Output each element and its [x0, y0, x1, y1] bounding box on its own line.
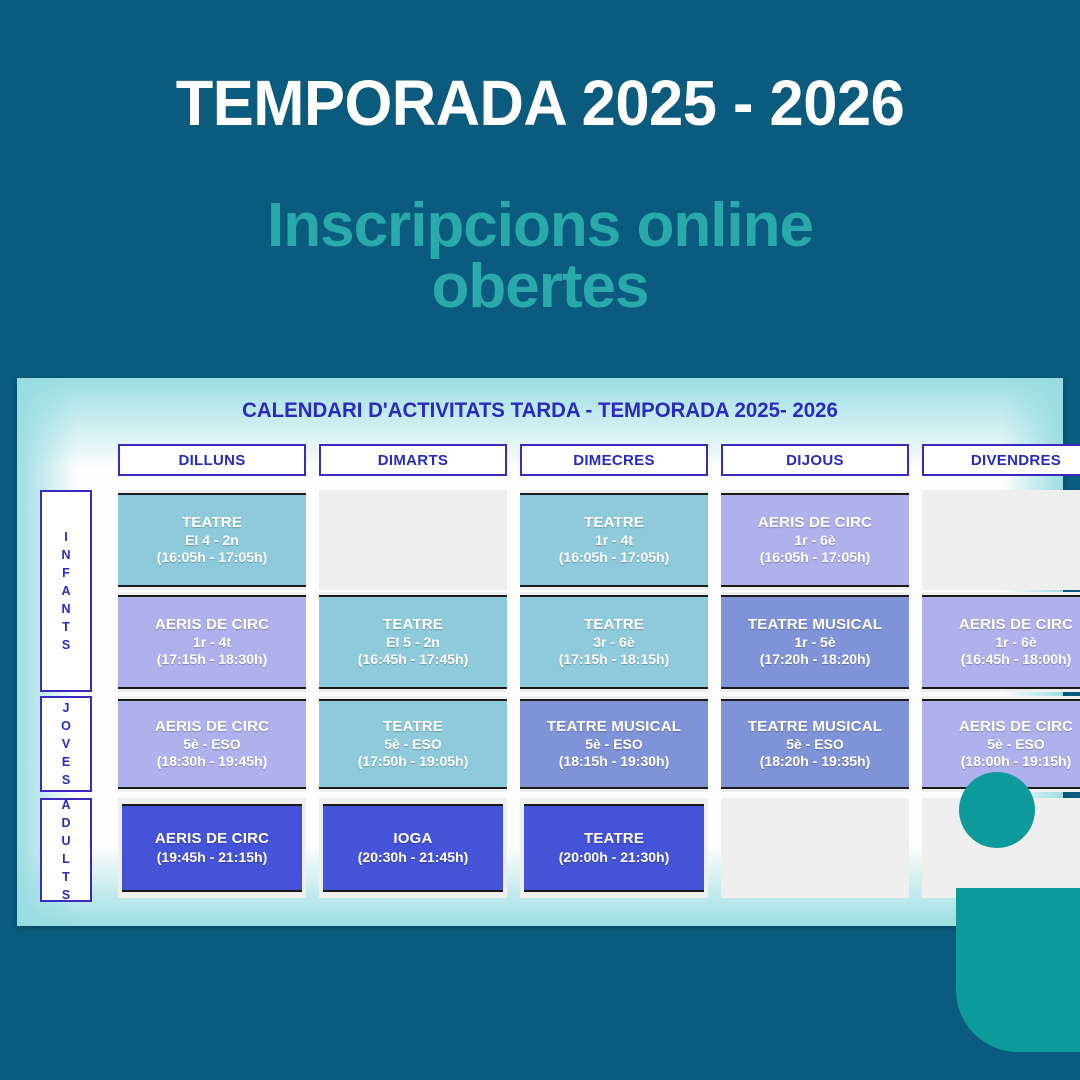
poster-subtitle-line2: obertes	[0, 257, 1080, 318]
activity-name: TEATRE MUSICAL	[748, 616, 882, 634]
logo-dot-icon	[959, 772, 1035, 848]
category-letter: A	[61, 796, 70, 814]
activity-level: 5è - ESO	[786, 736, 844, 753]
activity-time: (16:05h - 17:05h)	[559, 549, 669, 566]
category-letter: S	[62, 886, 70, 904]
activity-level: EI 4 - 2n	[185, 532, 239, 549]
category-letter: U	[61, 832, 70, 850]
activity-level: 1r - 6è	[995, 634, 1036, 651]
category-letter: O	[61, 717, 71, 735]
category-letter: T	[62, 868, 70, 886]
activity-cell[interactable]: TEATRE MUSICAL5è - ESO(18:20h - 19:35h)	[721, 699, 909, 789]
category-letter: S	[62, 771, 70, 789]
activity-name: TEATRE	[584, 514, 644, 532]
category-letter: S	[62, 636, 70, 654]
teatreneu-t-logo	[950, 765, 1080, 1080]
activity-time: (17:15h - 18:15h)	[559, 651, 669, 668]
activity-cell[interactable]: TEATRE1r - 4t(16:05h - 17:05h)	[520, 493, 708, 587]
category-letter: E	[62, 753, 70, 771]
activity-name: AERIS DE CIRC	[758, 514, 872, 532]
activity-level: 1r - 4t	[193, 634, 231, 651]
activity-level: 5è - ESO	[384, 736, 442, 753]
activity-time: (20:30h - 21:45h)	[358, 849, 468, 866]
activity-time: (16:05h - 17:05h)	[760, 549, 870, 566]
day-header-dimecres: DIMECRES	[520, 444, 708, 476]
activity-time: (20:00h - 21:30h)	[559, 849, 669, 866]
poster-root: TEMPORADA 2025 - 2026 Inscripcions onlin…	[0, 0, 1080, 1080]
poster-headline: TEMPORADA 2025 - 2026	[22, 70, 1059, 137]
activity-cell[interactable]: TEATRE MUSICAL5è - ESO(18:15h - 19:30h)	[520, 699, 708, 789]
activity-level: 5è - ESO	[987, 736, 1045, 753]
activity-name: TEATRE MUSICAL	[748, 718, 882, 736]
activity-name: TEATRE	[383, 616, 443, 634]
category-letters: INFANTS	[61, 528, 70, 655]
calendar-title: CALENDARI D'ACTIVITATS TARDA - TEMPORADA…	[43, 398, 1037, 423]
activity-cell[interactable]: AERIS DE CIRC1r - 6è(16:45h - 18:00h)	[922, 595, 1080, 689]
activity-name: TEATRE	[584, 616, 644, 634]
calendar-card: CALENDARI D'ACTIVITATS TARDA - TEMPORADA…	[17, 378, 1063, 926]
activity-cell[interactable]: TEATRE(20:00h - 21:30h)	[524, 804, 704, 892]
empty-cell	[319, 490, 507, 590]
activity-cell[interactable]: AERIS DE CIRC1r - 6è(16:05h - 17:05h)	[721, 493, 909, 587]
activity-name: TEATRE	[584, 830, 644, 848]
category-letters: JOVES	[61, 699, 71, 790]
activity-level: 3r - 6è	[593, 634, 634, 651]
activity-cell[interactable]: TEATRE MUSICAL1r - 5è(17:20h - 18:20h)	[721, 595, 909, 689]
category-letter: I	[64, 528, 67, 546]
activity-name: AERIS DE CIRC	[155, 830, 269, 848]
activity-level: 1r - 4t	[595, 532, 633, 549]
category-letter: D	[61, 814, 70, 832]
category-letter: T	[62, 618, 70, 636]
category-letter: N	[61, 600, 70, 618]
category-letter: A	[61, 582, 70, 600]
activity-time: (17:20h - 18:20h)	[760, 651, 870, 668]
poster-subtitle: Inscripcions online obertes	[0, 196, 1080, 318]
category-letter: N	[61, 546, 70, 564]
activity-cell[interactable]: TEATRE5è - ESO(17:50h - 19:05h)	[319, 699, 507, 789]
day-header-divendres: DIVENDRES	[922, 444, 1080, 476]
activity-time: (19:45h - 21:15h)	[157, 849, 267, 866]
activity-level: EI 5 - 2n	[386, 634, 440, 651]
activity-cell[interactable]: IOGA(20:30h - 21:45h)	[323, 804, 503, 892]
activity-level: 1r - 6è	[794, 532, 835, 549]
category-label-joves: JOVES	[40, 696, 92, 792]
activity-name: TEATRE	[182, 514, 242, 532]
day-header-row: DILLUNSDIMARTSDIMECRESDIJOUSDIVENDRES	[118, 444, 1040, 476]
empty-cell	[922, 490, 1080, 590]
activity-cell[interactable]: TEATREEI 4 - 2n(16:05h - 17:05h)	[118, 493, 306, 587]
activity-name: TEATRE	[383, 718, 443, 736]
day-header-dimarts: DIMARTS	[319, 444, 507, 476]
activity-time: (17:50h - 19:05h)	[358, 753, 468, 770]
activity-cell[interactable]: AERIS DE CIRC1r - 4t(17:15h - 18:30h)	[118, 595, 306, 689]
category-letter: F	[62, 564, 70, 582]
activity-time: (16:45h - 17:45h)	[358, 651, 468, 668]
activity-name: AERIS DE CIRC	[959, 616, 1073, 634]
activity-cell[interactable]: AERIS DE CIRC(19:45h - 21:15h)	[122, 804, 302, 892]
activity-name: IOGA	[393, 830, 432, 848]
category-letters: ADULTS	[61, 796, 70, 905]
activity-name: AERIS DE CIRC	[155, 616, 269, 634]
activity-level: 5è - ESO	[183, 736, 241, 753]
activity-time: (16:45h - 18:00h)	[961, 651, 1071, 668]
category-letter: J	[63, 699, 70, 717]
activity-name: TEATRE MUSICAL	[547, 718, 681, 736]
empty-cell	[721, 798, 909, 898]
activity-cell[interactable]: TEATRE3r - 6è(17:15h - 18:15h)	[520, 595, 708, 689]
category-label-infants: INFANTS	[40, 490, 92, 692]
activity-time: (17:15h - 18:30h)	[157, 651, 267, 668]
activity-level: 5è - ESO	[585, 736, 643, 753]
category-label-adults: ADULTS	[40, 798, 92, 902]
activity-time: (16:05h - 17:05h)	[157, 549, 267, 566]
category-letter: V	[62, 735, 70, 753]
day-header-dilluns: DILLUNS	[118, 444, 306, 476]
calendar-grid: DILLUNSDIMARTSDIMECRESDIJOUSDIVENDRESINF…	[40, 444, 1040, 904]
activity-level: 1r - 5è	[794, 634, 835, 651]
day-header-dijous: DIJOUS	[721, 444, 909, 476]
activity-name: AERIS DE CIRC	[155, 718, 269, 736]
activity-time: (18:20h - 19:35h)	[760, 753, 870, 770]
activity-name: AERIS DE CIRC	[959, 718, 1073, 736]
poster-subtitle-line1: Inscripcions online	[267, 191, 813, 260]
activity-time: (18:15h - 19:30h)	[559, 753, 669, 770]
activity-cell[interactable]: TEATREEI 5 - 2n(16:45h - 17:45h)	[319, 595, 507, 689]
activity-time: (18:30h - 19:45h)	[157, 753, 267, 770]
category-letter: L	[62, 850, 70, 868]
activity-cell[interactable]: AERIS DE CIRC5è - ESO(18:30h - 19:45h)	[118, 699, 306, 789]
